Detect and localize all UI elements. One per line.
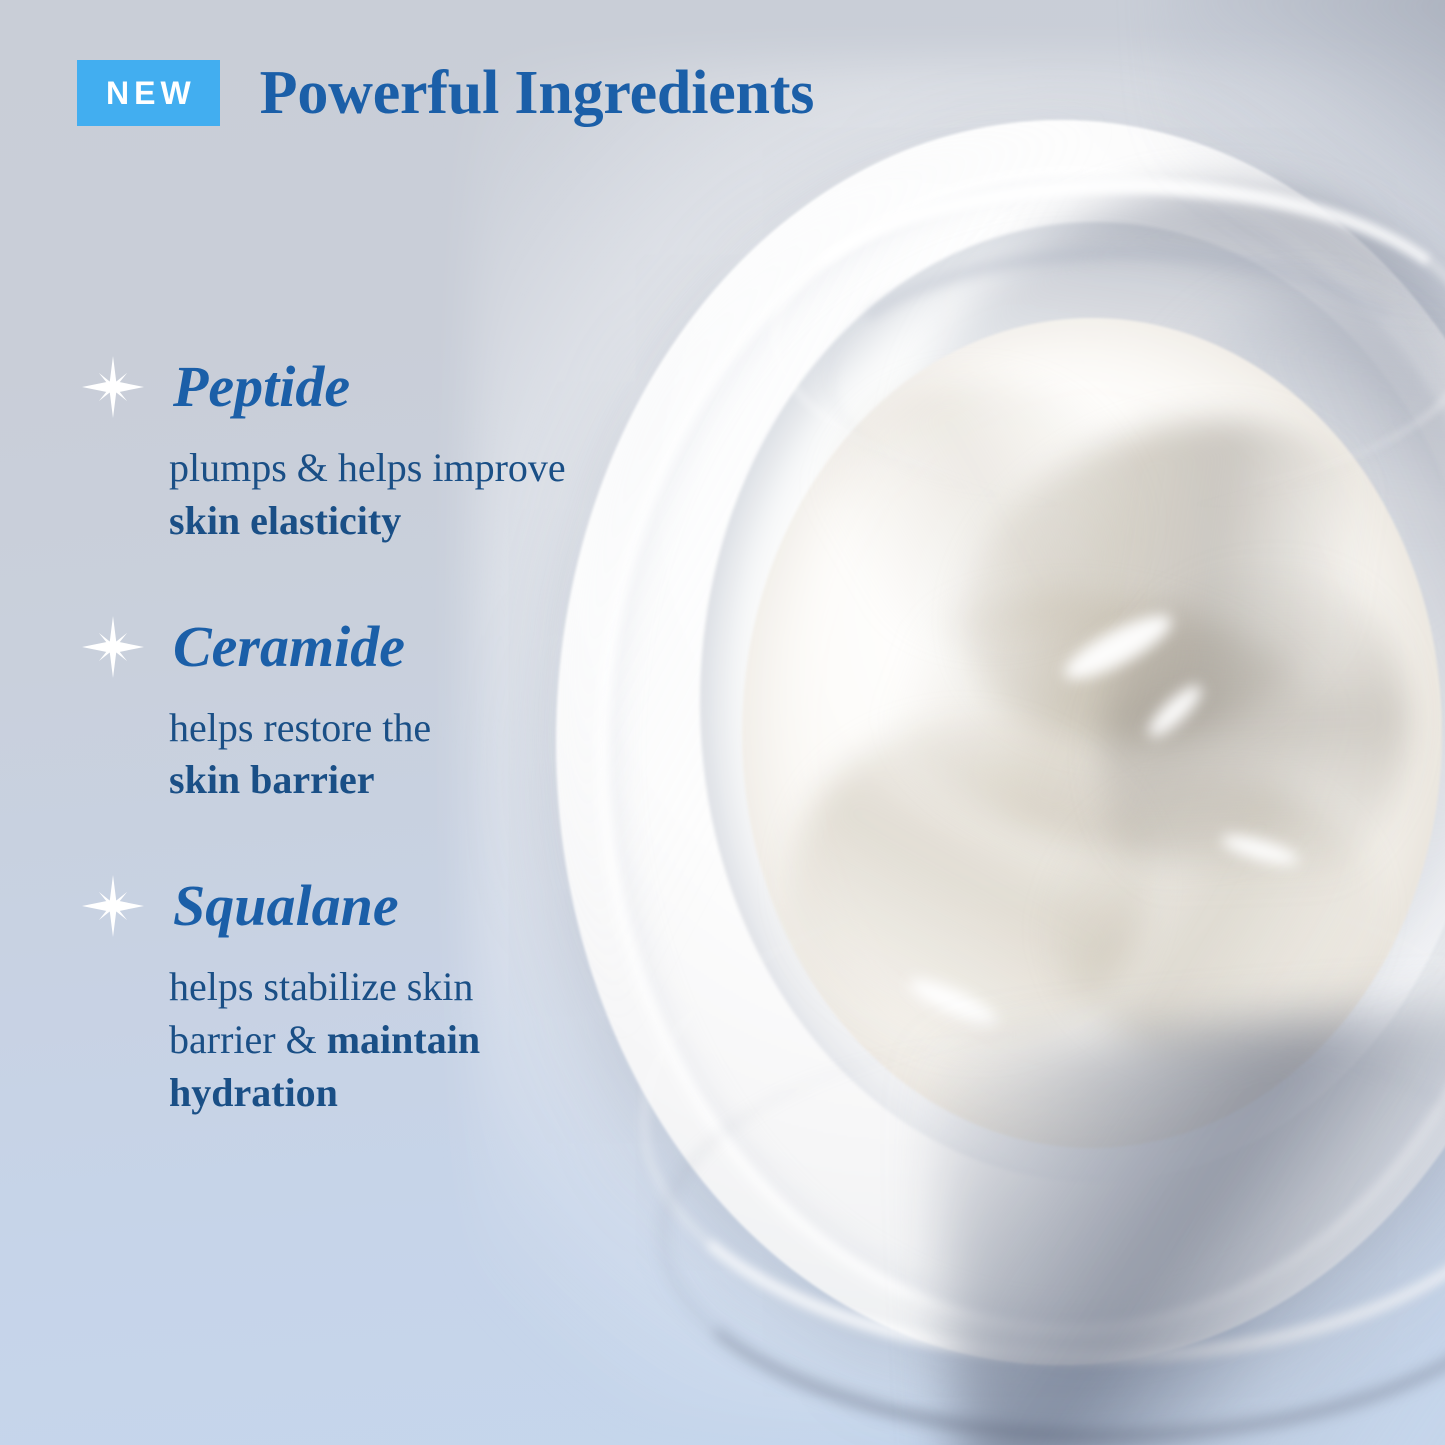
- desc-line: helps restore the: [169, 705, 431, 750]
- sparkle-icon: [81, 615, 145, 679]
- ingredient-name: Ceramide: [173, 618, 405, 676]
- ingredient-name: Peptide: [173, 358, 350, 416]
- ingredient-description: helps stabilize skin barrier & maintain …: [169, 961, 689, 1119]
- sparkle-icon: [81, 874, 145, 938]
- desc-line-bold: maintain: [327, 1017, 480, 1062]
- desc-line: barrier &: [169, 1017, 327, 1062]
- ingredient-item-peptide: Peptide plumps & helps improve skin elas…: [77, 350, 697, 548]
- header: NEW Powerful Ingredients: [77, 60, 814, 126]
- ingredient-name: Squalane: [173, 877, 399, 935]
- ingredient-heading-row: Ceramide: [77, 610, 697, 684]
- marketing-graphic: NEW Powerful Ingredients Peptide plumps …: [0, 0, 1445, 1445]
- page-title: Powerful Ingredients: [260, 62, 815, 124]
- new-badge: NEW: [77, 60, 220, 126]
- ingredient-item-ceramide: Ceramide helps restore the skin barrier: [77, 610, 697, 808]
- desc-line-bold: skin barrier: [169, 757, 375, 802]
- ingredient-heading-row: Squalane: [77, 869, 697, 943]
- desc-line-bold: hydration: [169, 1070, 338, 1115]
- desc-line: plumps & helps improve: [169, 445, 566, 490]
- sparkle-icon: [81, 355, 145, 419]
- ingredient-description: helps restore the skin barrier: [169, 702, 689, 808]
- ingredient-heading-row: Peptide: [77, 350, 697, 424]
- ingredient-description: plumps & helps improve skin elasticity: [169, 442, 689, 548]
- desc-line: helps stabilize skin: [169, 964, 473, 1009]
- ingredients-list: Peptide plumps & helps improve skin elas…: [77, 350, 697, 1120]
- ingredient-item-squalane: Squalane helps stabilize skin barrier & …: [77, 869, 697, 1119]
- desc-line-bold: skin elasticity: [169, 498, 401, 543]
